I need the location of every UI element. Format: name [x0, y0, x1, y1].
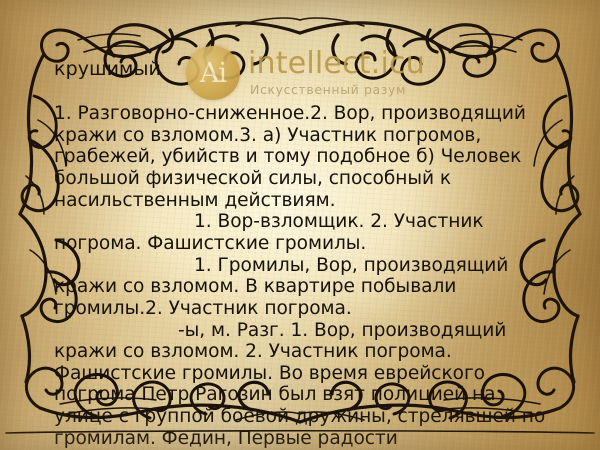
- entry-headword: крушимый: [54, 60, 554, 80]
- entry-definitions: 1. Разговорно-сниженное.2. Вор, производ…: [54, 103, 554, 450]
- definition-paragraph: 1. Вор-взломщик. 2. Участник погрома. Фа…: [54, 211, 554, 254]
- dictionary-entry: крушимый 1. Разговорно-сниженное.2. Вор,…: [54, 60, 554, 449]
- definition-paragraph: 1. Разговорно-сниженное.2. Вор, производ…: [54, 103, 554, 211]
- definition-paragraph: -ы, м. Разг. 1. Вор, производящий кражи …: [54, 320, 554, 450]
- definition-paragraph: 1. Громилы, Вор, производящий кражи со в…: [54, 255, 554, 320]
- slide-canvas: Ai intellect.icu Искусственный разум кру…: [0, 0, 600, 450]
